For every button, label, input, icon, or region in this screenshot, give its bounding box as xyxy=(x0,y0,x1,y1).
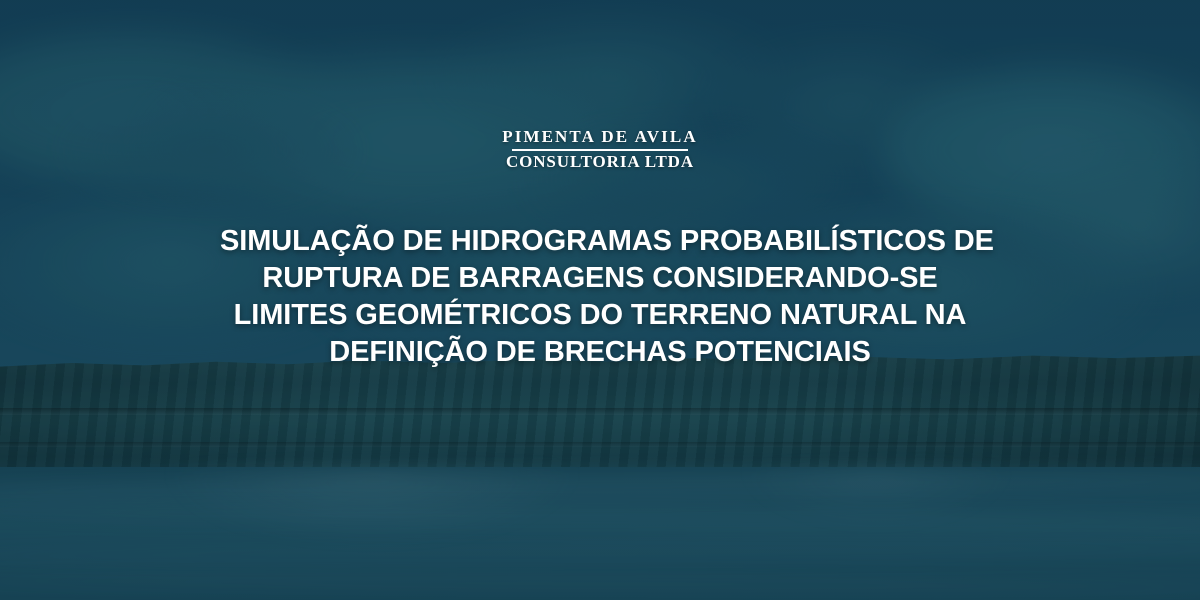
page-title-line: DEFINIÇÃO DE BRECHAS POTENCIAIS xyxy=(220,334,980,371)
company-logo: PIMENTA DE AVILA CONSULTORIA LTDA xyxy=(502,128,697,171)
logo-company-subtitle: CONSULTORIA LTDA xyxy=(502,153,697,171)
page-title-line: RUPTURA DE BARRAGENS CONSIDERANDO-SE xyxy=(220,260,980,297)
page-title-line: LIMITES GEOMÉTRICOS DO TERRENO NATURAL N… xyxy=(220,297,980,334)
slide-content: PIMENTA DE AVILA CONSULTORIA LTDA SIMULA… xyxy=(0,0,1200,600)
page-title-line: SIMULAÇÃO DE HIDROGRAMAS PROBABILÍSTICOS… xyxy=(220,223,980,260)
title-slide: PIMENTA DE AVILA CONSULTORIA LTDA SIMULA… xyxy=(0,0,1200,600)
logo-divider-rule xyxy=(512,149,688,151)
logo-company-name: PIMENTA DE AVILA xyxy=(502,128,697,146)
page-title: SIMULAÇÃO DE HIDROGRAMAS PROBABILÍSTICOS… xyxy=(220,223,980,371)
